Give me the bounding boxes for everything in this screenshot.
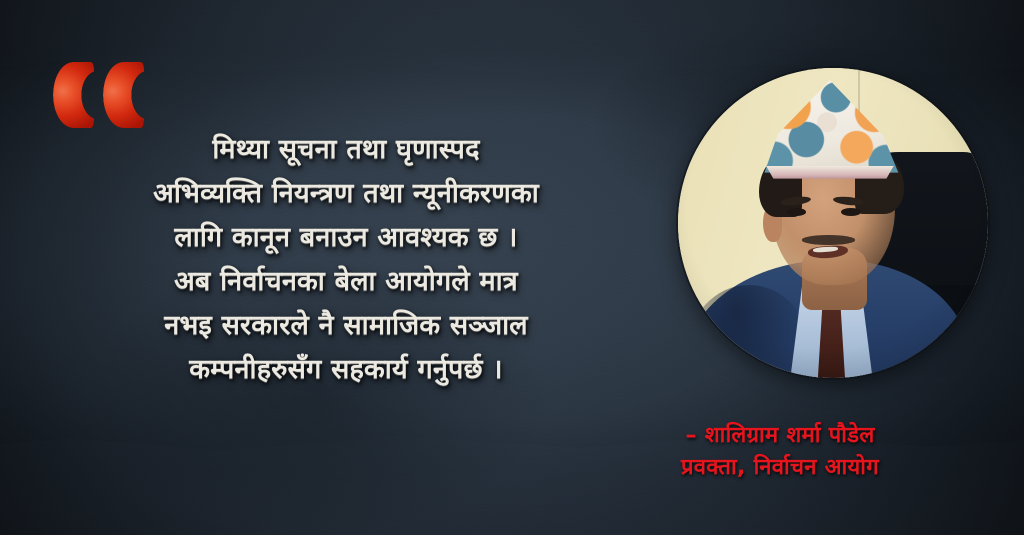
quote-line: नभइ सरकारले नै सामाजिक सञ्जाल [36,304,656,348]
quote-line: अभिव्यक्ति नियन्त्रण तथा न्यूनीकरणका [36,172,656,216]
quote-line: मिथ्या सूचना तथा घृणास्पद [36,128,656,172]
portrait-avatar [678,68,988,378]
quote-card: मिथ्या सूचना तथा घृणास्पद अभिव्यक्ति निय… [0,0,1024,535]
quote-text-block: मिथ्या सूचना तथा घृणास्पद अभिव्यक्ति निय… [36,128,656,392]
quote-line: अब निर्वाचनका बेला आयोगले मात्र [36,260,656,304]
quote-crescent-left [53,62,94,128]
portrait-moustache [802,235,855,244]
quote-line: कम्पनीहरुसँग सहकार्य गर्नुपर्छ । [36,348,656,392]
attribution-name: – शालिग्राम शर्मा पौडेल [570,420,990,452]
portrait-eye-left [787,208,807,216]
portrait-eye-right [841,208,861,216]
quote-crescent-right [103,62,144,128]
attribution-block: – शालिग्राम शर्मा पौडेल प्रवक्ता, निर्वा… [570,420,990,484]
attribution-role: प्रवक्ता, निर्वाचन आयोग [570,452,990,484]
dhaka-topi-band [756,166,905,179]
open-quote-icon [53,62,145,130]
quote-line: लागि कानून बनाउन आवश्यक छ । [36,216,656,260]
